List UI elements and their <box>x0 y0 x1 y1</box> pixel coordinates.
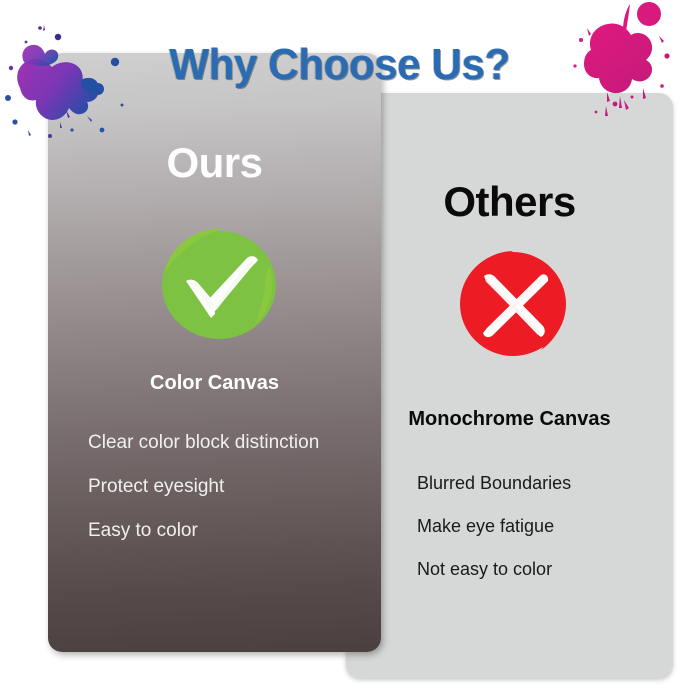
check-circle-icon <box>157 222 281 346</box>
others-subtitle: Monochrome Canvas <box>346 408 673 431</box>
ours-subtitle: Color Canvas <box>48 372 381 395</box>
others-heading: Others <box>346 178 673 226</box>
cross-circle-icon <box>455 245 572 362</box>
ours-heading: Ours <box>48 139 381 187</box>
ours-feature-list: Clear color block distinction Protect ey… <box>88 432 319 564</box>
comparison-infographic: Why Choose Us? Ours Others <box>0 0 679 690</box>
list-item: Easy to color <box>88 520 319 542</box>
list-item: Not easy to color <box>417 559 571 580</box>
list-item: Protect eyesight <box>88 476 319 498</box>
list-item: Blurred Boundaries <box>417 473 571 494</box>
others-feature-list: Blurred Boundaries Make eye fatigue Not … <box>417 473 571 602</box>
list-item: Clear color block distinction <box>88 432 319 454</box>
page-title: Why Choose Us? <box>14 40 666 90</box>
list-item: Make eye fatigue <box>417 516 571 537</box>
